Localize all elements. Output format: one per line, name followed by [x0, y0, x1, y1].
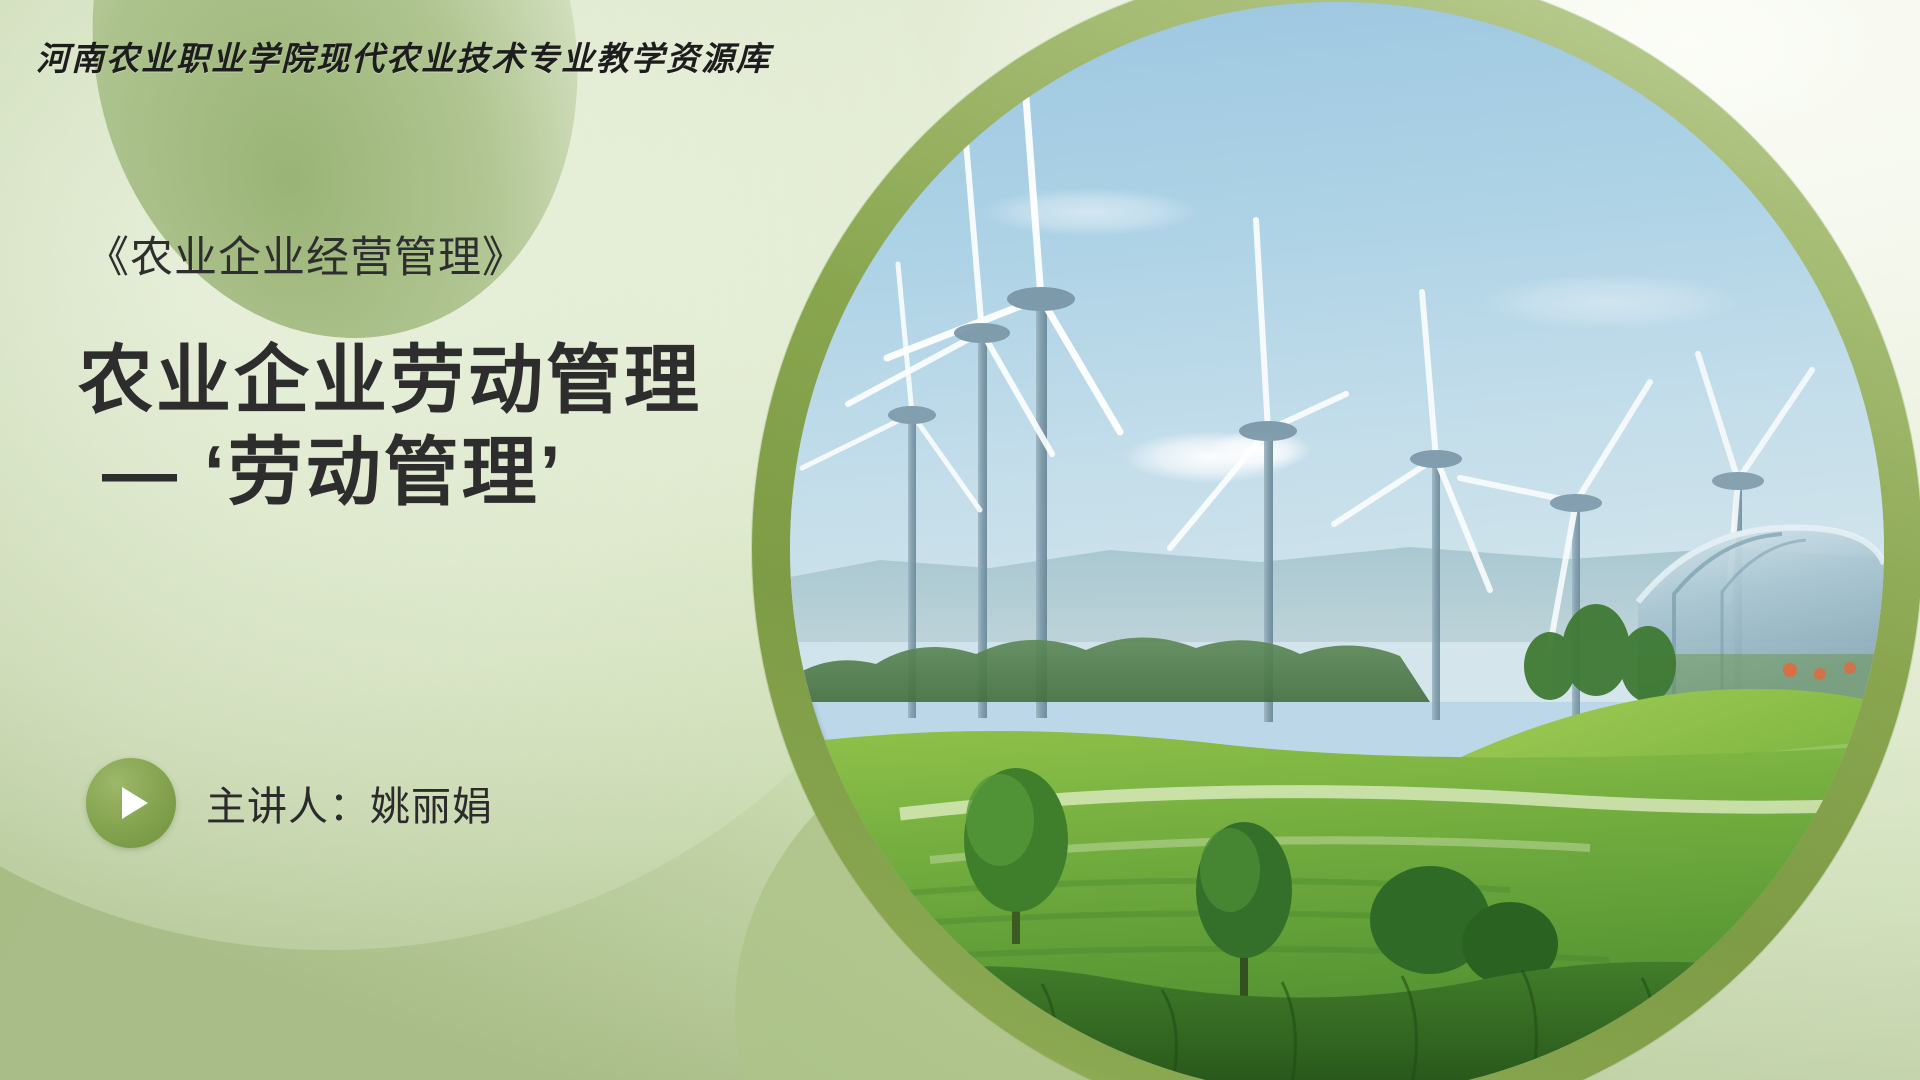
presenter-row: 主讲人：姚丽娟: [86, 758, 493, 848]
page-title-line-1: 农业企业劳动管理: [78, 338, 702, 422]
play-button[interactable]: [86, 758, 176, 848]
institution-title: 河南农业职业学院现代农业技术专业教学资源库: [36, 32, 771, 80]
photo-ring-frame: [752, 0, 1920, 1080]
play-icon: [122, 787, 148, 819]
page-title: 农业企业劳动管理 — ‘劳动管理’: [78, 335, 702, 518]
page-title-line-2: — ‘劳动管理’: [78, 427, 702, 519]
wind-farm-landscape-illustration: [790, 2, 1884, 1080]
presentation-slide: 河南农业职业学院现代农业技术专业教学资源库 《农业企业经营管理》 农业企业劳动管…: [0, 0, 1920, 1080]
circular-photo: [790, 2, 1884, 1080]
presenter-label: 主讲人：姚丽娟: [206, 774, 493, 832]
course-name: 《农业企业经营管理》: [86, 223, 526, 285]
